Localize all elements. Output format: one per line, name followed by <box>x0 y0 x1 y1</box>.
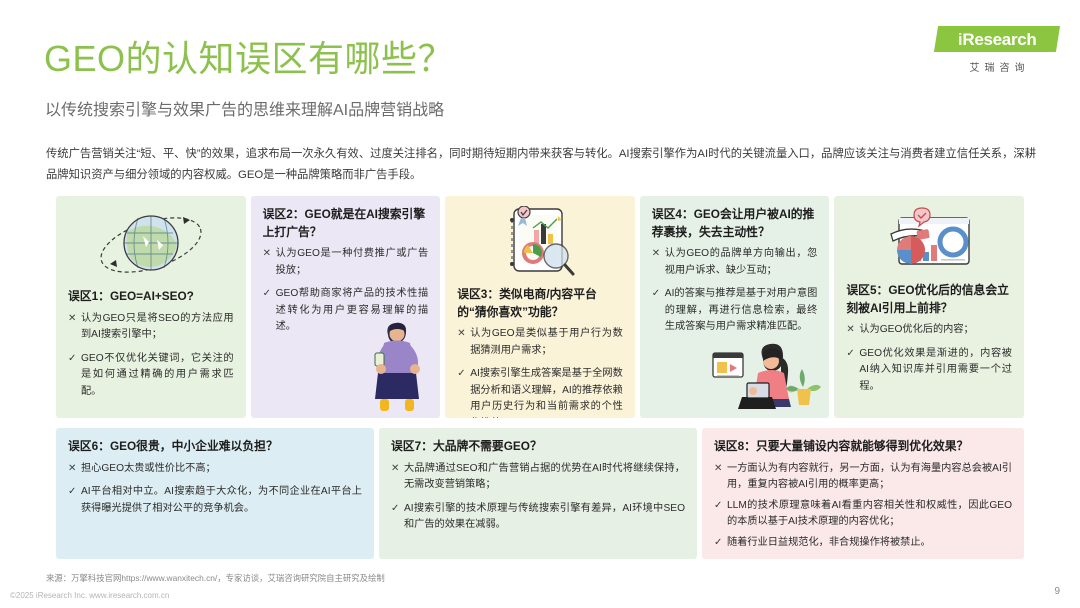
bullet-text: AI平台相对中立。AI搜索趋于大众化，为不同企业在AI平台上获得曝光提供了相对公… <box>81 484 362 517</box>
bullet-text: AI的答案与推荐是基于对用户意图的理解，再进行信息检索，最终生成答案与用户需求精… <box>665 286 818 336</box>
card-title: 误区3：类似电商/内容平台的“猜你喜欢”功能？ <box>457 286 623 321</box>
card-bullet-list: ✕ 认为GEO只是将SEO的方法应用到AI搜索引擎中； ✓ GEO不仅优化关键词… <box>68 311 234 401</box>
misconception-card-4: 误区4：GEO会让用户被AI的推荐裹挟，失去主动性？ ✕ 认为GEO的品牌单方向… <box>640 196 830 418</box>
bullet-text: 认为GEO是类似基于用户行为数据猜测用户需求； <box>470 326 623 359</box>
misconception-card-6: 误区6：GEO很贵，中小企业难以负担？ ✕ 担心GEO太贵或性价比不高； ✓ A… <box>56 428 374 559</box>
cross-icon: ✕ <box>263 246 276 279</box>
bullet-item: ✕ 认为GEO是类似基于用户行为数据猜测用户需求； <box>457 326 623 359</box>
bullet-text: 认为GEO是一种付费推广或广告投放； <box>276 246 429 279</box>
bullet-item: ✕ 认为GEO优化后的内容； <box>846 322 1012 339</box>
card-title: 误区5：GEO优化后的信息会立刻被AI引用上前排？ <box>846 282 1012 317</box>
bullet-item: ✓ LLM的技术原理意味着AI看重内容相关性和权威性，因此GEO的本质以基于AI… <box>714 498 1012 531</box>
iresearch-logo: iResearch 艾瑞咨询 <box>936 26 1058 74</box>
bullet-text: 认为GEO只是将SEO的方法应用到AI搜索引擎中； <box>81 311 234 344</box>
bullet-item: ✓ AI平台相对中立。AI搜索趋于大众化，为不同企业在AI平台上获得曝光提供了相… <box>68 484 362 517</box>
bullet-item: ✓ AI搜索引擎生成答案是基于全网数据分析和语义理解，AI的推荐依赖用户历史行为… <box>457 366 623 418</box>
globe-orbit-icon <box>68 206 234 284</box>
check-icon: ✓ <box>68 484 81 517</box>
page-title: GEO的认知误区有哪些？ <box>44 30 454 82</box>
bullet-text: 担心GEO太贵或性价比不高； <box>81 461 362 478</box>
check-icon: ✓ <box>846 346 859 396</box>
copyright-text: ©2025 iResearch Inc. www.iresearch.com.c… <box>10 591 169 600</box>
bullet-item: ✓ GEO不仅优化关键词，它关注的是如何通过精确的用户需求匹配。 <box>68 351 234 401</box>
cross-icon: ✕ <box>68 311 81 344</box>
cross-icon: ✕ <box>391 461 404 494</box>
bullet-text: AI搜索引擎生成答案是基于全网数据分析和语义理解，AI的推荐依赖用户历史行为和当… <box>470 366 623 418</box>
cross-icon: ✕ <box>457 326 470 359</box>
card-title: 误区1：GEO=AI+SEO? <box>68 288 234 306</box>
page-subtitle: 以传统搜索引擎与效果广告的思维来理解AI品牌营销战略 <box>45 96 444 120</box>
bullet-item: ✕ 认为GEO只是将SEO的方法应用到AI搜索引擎中； <box>68 311 234 344</box>
cross-icon: ✕ <box>846 322 859 339</box>
dashboard-charts-icon <box>846 206 1012 278</box>
misconception-card-3: 误区3：类似电商/内容平台的“猜你喜欢”功能？ ✕ 认为GEO是类似基于用户行为… <box>445 196 635 418</box>
logo-badge: iResearch <box>934 26 1060 52</box>
check-icon: ✓ <box>714 498 727 531</box>
cross-icon: ✕ <box>652 246 665 279</box>
bullet-item: ✕ 担心GEO太贵或性价比不高； <box>68 461 362 478</box>
woman-laptop-plant-illustration <box>711 343 823 418</box>
bullet-item: ✕ 一方面认为有内容就行，另一方面，认为有海量内容总会被AI引用，重复内容被AI… <box>714 461 1012 494</box>
check-icon: ✓ <box>263 286 276 336</box>
check-icon: ✓ <box>391 501 404 534</box>
card-title: 误区7：大品牌不需要GEO？ <box>391 438 685 456</box>
card-bullet-list: ✕ 认为GEO是一种付费推广或广告投放； ✓ GEO帮助商家将产品的技术性描述转… <box>263 246 429 336</box>
misconception-cards-row-top: 误区1：GEO=AI+SEO? ✕ 认为GEO只是将SEO的方法应用到AI搜索引… <box>56 196 1024 418</box>
bullet-text: AI搜索引擎的技术原理与传统搜索引擎有差异，AI环境中SEO和广告的效果在减弱。 <box>404 501 685 534</box>
card-bullet-list: ✕ 一方面认为有内容就行，另一方面，认为有海量内容总会被AI引用，重复内容被AI… <box>714 461 1012 552</box>
bullet-text: LLM的技术原理意味着AI看重内容相关性和权威性，因此GEO的本质以基于AI技术… <box>727 498 1012 531</box>
card-bullet-list: ✕ 大品牌通过SEO和广告营销占据的优势在AI时代将继续保持，无需改变营销策略；… <box>391 461 685 534</box>
card-title: 误区2：GEO就是在AI搜索引擎上打广告？ <box>263 206 429 241</box>
check-icon: ✓ <box>68 351 81 401</box>
source-note: 来源：万擎科技官网https://www.wanxitech.cn/，专家访谈，… <box>46 572 385 584</box>
card-bullet-list: ✕ 认为GEO的品牌单方向输出，忽视用户诉求、缺少互动； ✓ AI的答案与推荐是… <box>652 246 818 336</box>
bullet-item: ✕ 认为GEO是一种付费推广或广告投放； <box>263 246 429 279</box>
bullet-item: ✓ AI搜索引擎的技术原理与传统搜索引擎有差异，AI环境中SEO和广告的效果在减… <box>391 501 685 534</box>
check-icon: ✓ <box>457 366 470 418</box>
card-bullet-list: ✕ 认为GEO优化后的内容； ✓ GEO优化效果是渐进的，内容被AI纳入知识库并… <box>846 322 1012 395</box>
card-title: 误区6：GEO很贵，中小企业难以负担？ <box>68 438 362 456</box>
misconception-card-2: 误区2：GEO就是在AI搜索引擎上打广告？ ✕ 认为GEO是一种付费推广或广告投… <box>251 196 441 418</box>
misconception-card-7: 误区7：大品牌不需要GEO？ ✕ 大品牌通过SEO和广告营销占据的优势在AI时代… <box>379 428 697 559</box>
check-icon: ✓ <box>652 286 665 336</box>
bullet-item: ✓ GEO帮助商家将产品的技术性描述转化为用户更容易理解的描述。 <box>263 286 429 336</box>
misconception-card-1: 误区1：GEO=AI+SEO? ✕ 认为GEO只是将SEO的方法应用到AI搜索引… <box>56 196 246 418</box>
page-number: 9 <box>1054 586 1060 597</box>
cross-icon: ✕ <box>714 461 727 494</box>
bullet-text: 认为GEO优化后的内容； <box>859 322 1012 339</box>
logo-wordmark: iResearch <box>958 31 1037 48</box>
intro-paragraph: 传统广告营销关注“短、平、快”的效果，追求布局一次永久有效、过度关注排名，同时期… <box>46 144 1036 186</box>
bullet-text: GEO优化效果是渐进的，内容被AI纳入知识库并引用需要一个过程。 <box>859 346 1012 396</box>
tablet-chart-search-icon <box>457 206 623 282</box>
misconception-card-5: 误区5：GEO优化后的信息会立刻被AI引用上前排？ ✕ 认为GEO优化后的内容；… <box>834 196 1024 418</box>
logo-chinese-name: 艾瑞咨询 <box>936 59 1058 74</box>
bullet-text: 认为GEO的品牌单方向输出，忽视用户诉求、缺少互动； <box>665 246 818 279</box>
card-bullet-list: ✕ 认为GEO是类似基于用户行为数据猜测用户需求； ✓ AI搜索引擎生成答案是基… <box>457 326 623 418</box>
bullet-item: ✕ 认为GEO的品牌单方向输出，忽视用户诉求、缺少互动； <box>652 246 818 279</box>
bullet-text: 大品牌通过SEO和广告营销占据的优势在AI时代将继续保持，无需改变营销策略； <box>404 461 685 494</box>
misconception-cards-row-bottom: 误区6：GEO很贵，中小企业难以负担？ ✕ 担心GEO太贵或性价比不高； ✓ A… <box>56 428 1024 559</box>
check-icon: ✓ <box>714 535 727 552</box>
card-title: 误区4：GEO会让用户被AI的推荐裹挟，失去主动性？ <box>652 206 818 241</box>
logo-letter-rest: Research <box>962 30 1036 49</box>
bullet-text: 随着行业日益规范化，非合规操作将被禁止。 <box>727 535 1012 552</box>
bullet-text: 一方面认为有内容就行，另一方面，认为有海量内容总会被AI引用，重复内容被AI引用… <box>727 461 1012 494</box>
bullet-text: GEO不仅优化关键词，它关注的是如何通过精确的用户需求匹配。 <box>81 351 234 401</box>
bullet-item: ✓ GEO优化效果是渐进的，内容被AI纳入知识库并引用需要一个过程。 <box>846 346 1012 396</box>
card-bullet-list: ✕ 担心GEO太贵或性价比不高； ✓ AI平台相对中立。AI搜索趋于大众化，为不… <box>68 461 362 518</box>
bullet-text: GEO帮助商家将产品的技术性描述转化为用户更容易理解的描述。 <box>276 286 429 336</box>
bullet-item: ✓ AI的答案与推荐是基于对用户意图的理解，再进行信息检索，最终生成答案与用户需… <box>652 286 818 336</box>
card-title: 误区8：只要大量铺设内容就能够得到优化效果？ <box>714 438 1012 456</box>
bullet-item: ✓ 随着行业日益规范化，非合规操作将被禁止。 <box>714 535 1012 552</box>
cross-icon: ✕ <box>68 461 81 478</box>
bullet-item: ✕ 大品牌通过SEO和广告营销占据的优势在AI时代将继续保持，无需改变营销策略； <box>391 461 685 494</box>
misconception-card-8: 误区8：只要大量铺设内容就能够得到优化效果？ ✕ 一方面认为有内容就行，另一方面… <box>702 428 1024 559</box>
